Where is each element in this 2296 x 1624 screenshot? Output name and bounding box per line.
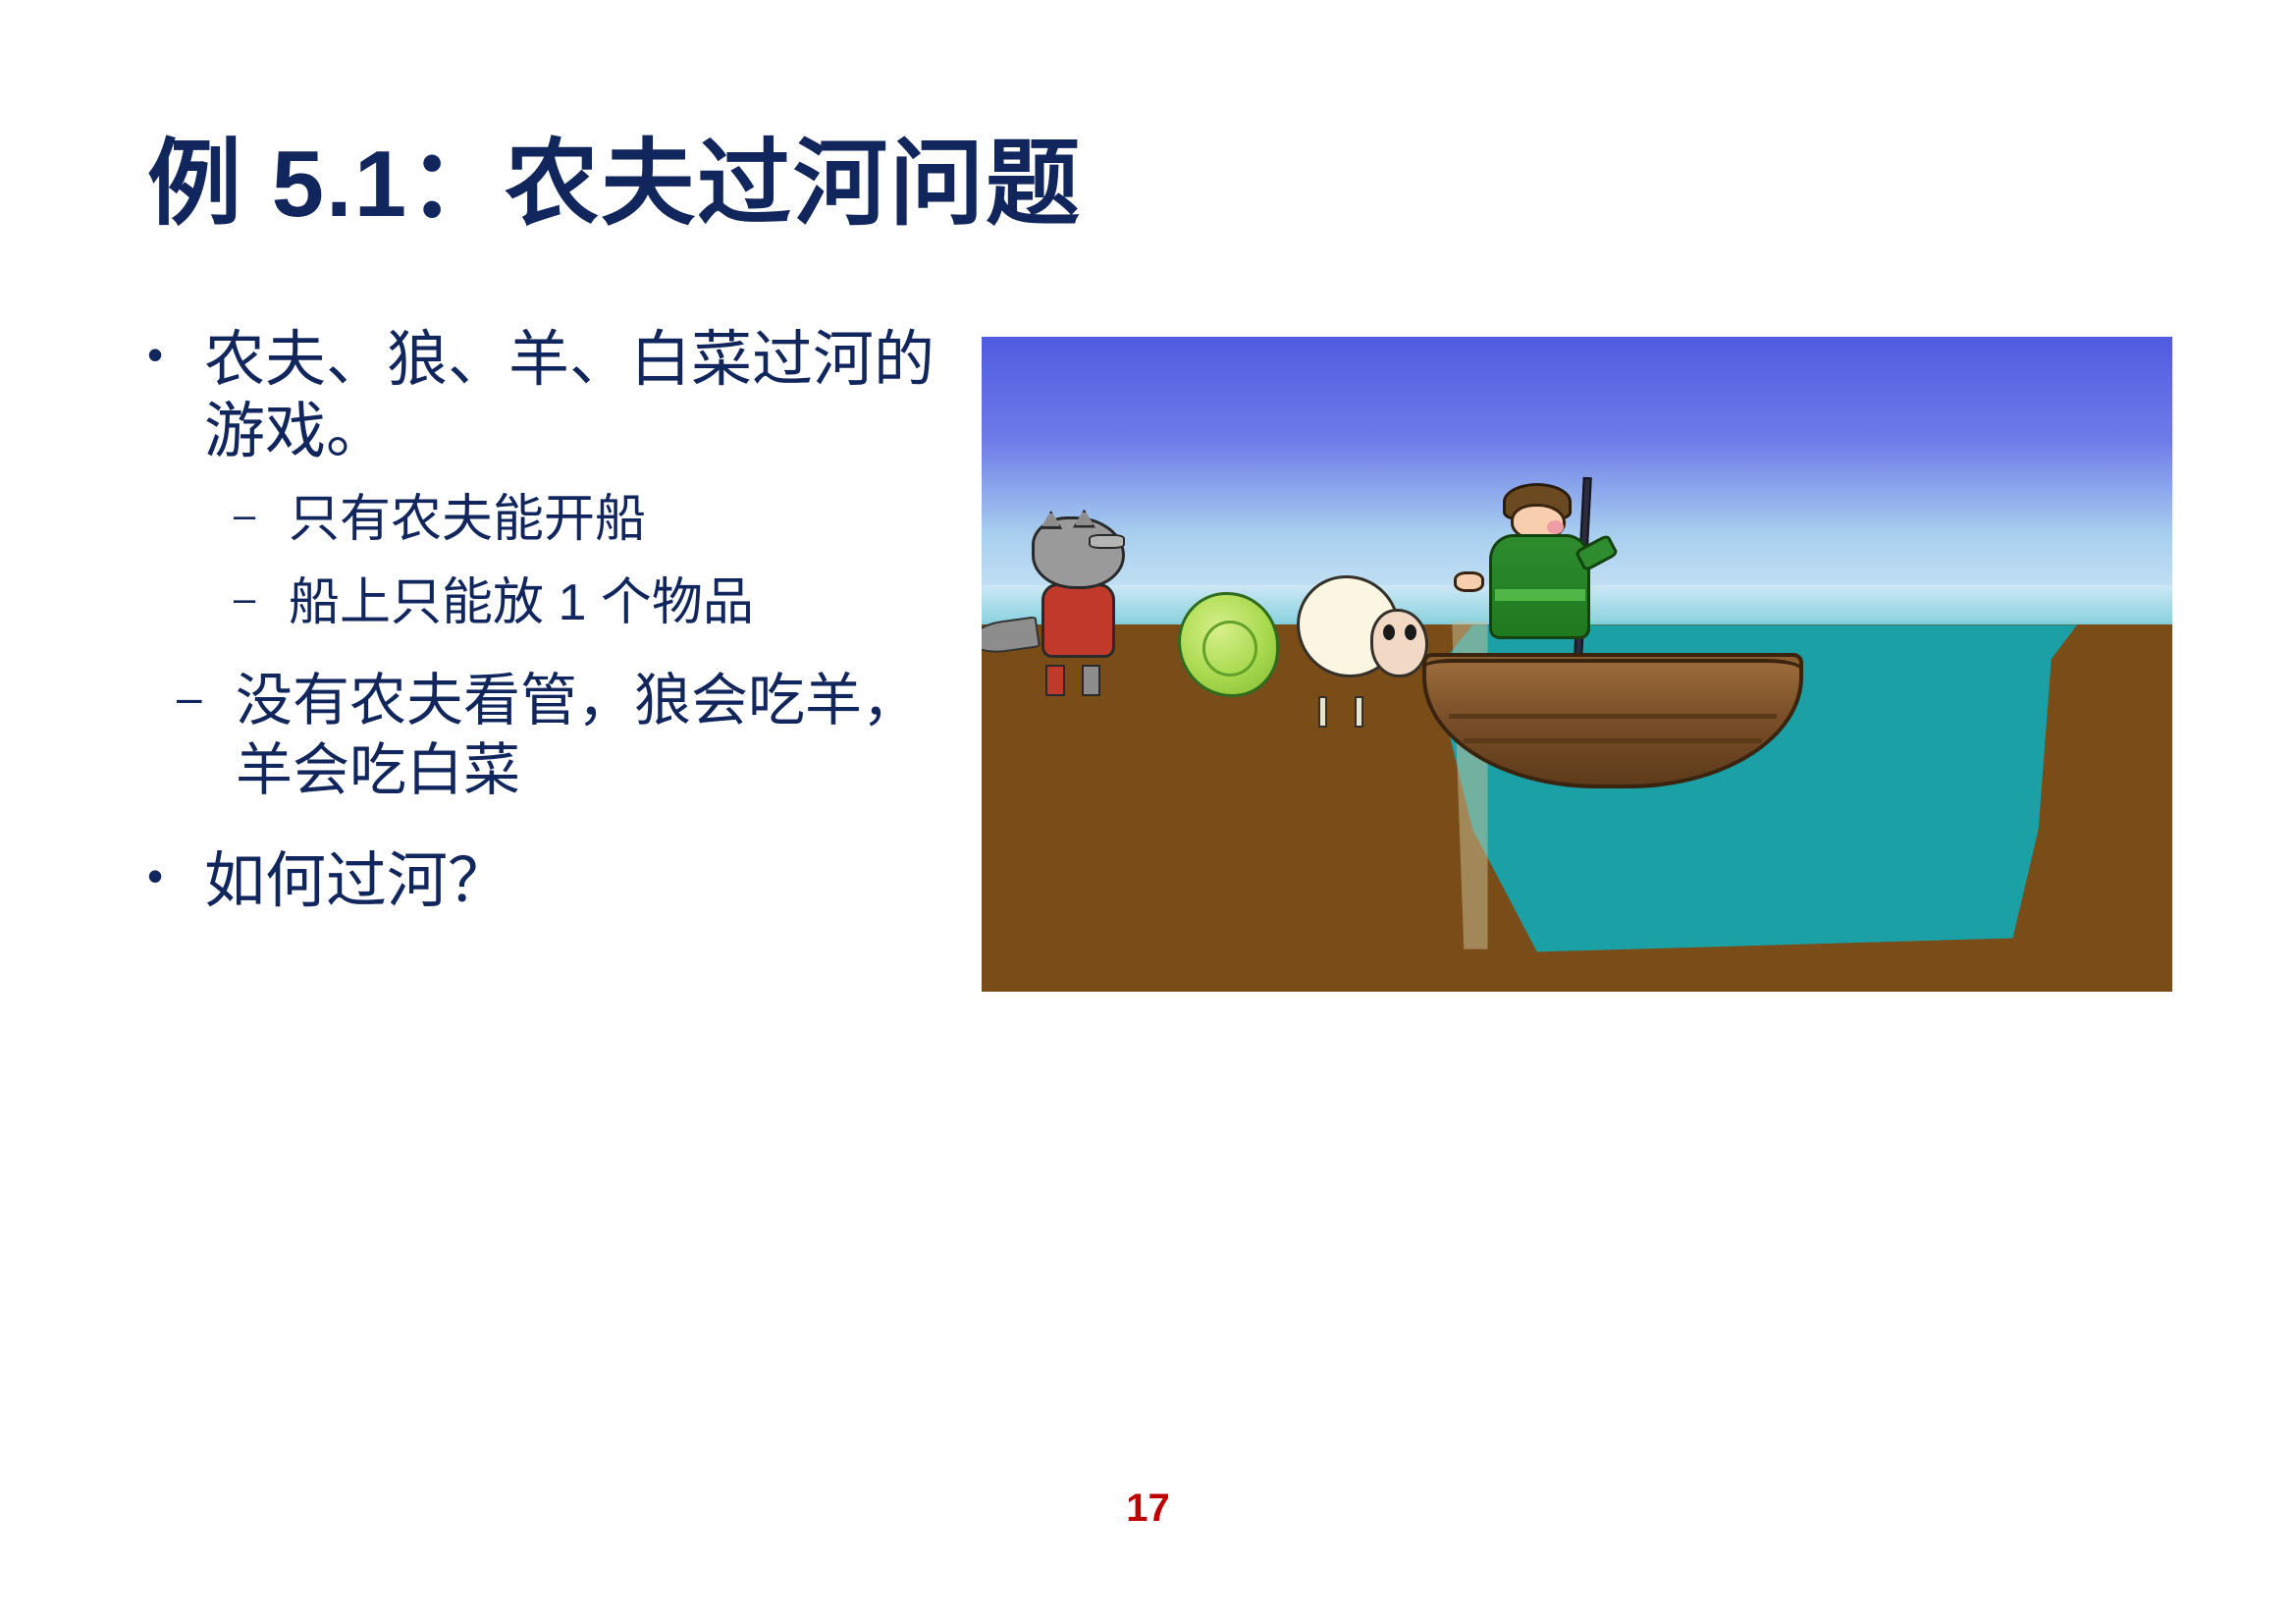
bullet-item-5: • 如何过河？ (147, 845, 952, 917)
sheep-leg-left (1318, 696, 1327, 728)
bullet-text-2: 只有农夫能开船 (289, 489, 952, 550)
wolf-head (1032, 516, 1125, 589)
wolf-figure (1020, 516, 1139, 674)
cabbage-figure (1178, 592, 1279, 697)
farmer-coat (1489, 534, 1590, 639)
sheep-head (1370, 609, 1428, 677)
bullet-text-1: 农夫、狼、羊、白菜过河的游戏。 (204, 324, 952, 467)
bullet-item-2: – 只有农夫能开船 (147, 489, 952, 550)
bullet-item-3: – 船上只能放 1 个物品 (147, 572, 952, 633)
sheep-figure (1297, 572, 1427, 703)
bullet-text-4: 没有农夫看管，狼会吃羊，羊会吃白菜 (236, 667, 952, 806)
wolf-leg-left (1045, 665, 1064, 696)
sheep-leg-right (1355, 696, 1363, 728)
farmer-cheek (1547, 520, 1564, 534)
bullet-marker-dot: • (147, 324, 204, 385)
slide: 例 5.1：农夫过河问题 • 农夫、狼、羊、白菜过河的游戏。 – 只有农夫能开船… (0, 0, 2296, 1624)
bullet-text-3: 船上只能放 1 个物品 (289, 572, 952, 633)
wolf-snout (1089, 534, 1125, 549)
boat-hull (1422, 659, 1803, 788)
boat-figure (1422, 644, 1803, 788)
bullet-list: • 农夫、狼、羊、白菜过河的游戏。 – 只有农夫能开船 – 船上只能放 1 个物… (147, 324, 952, 921)
bullet-item-1: • 农夫、狼、羊、白菜过河的游戏。 (147, 324, 952, 467)
bullet-text-5: 如何过河？ (204, 845, 952, 917)
wolf-body (1041, 583, 1115, 659)
boat-plank-lower (1464, 738, 1762, 743)
river-crossing-illustration (982, 337, 2172, 992)
wolf-leg-right (1082, 665, 1100, 696)
farmer-figure (1475, 483, 1613, 653)
boat-plank-upper (1449, 714, 1778, 719)
farmer-belt (1495, 589, 1585, 601)
bullet-marker-dot-2: • (147, 845, 204, 906)
bullet-marker-dash-1: – (234, 489, 289, 542)
farmer-hand (1454, 571, 1484, 592)
page-title: 例 5.1：农夫过河问题 (147, 137, 1816, 232)
bullet-marker-dash-2: – (234, 572, 289, 625)
wolf-tail (982, 616, 1041, 656)
page-number: 17 (0, 1487, 2296, 1531)
bullet-item-4: – 没有农夫看管，狼会吃羊，羊会吃白菜 (147, 667, 952, 806)
